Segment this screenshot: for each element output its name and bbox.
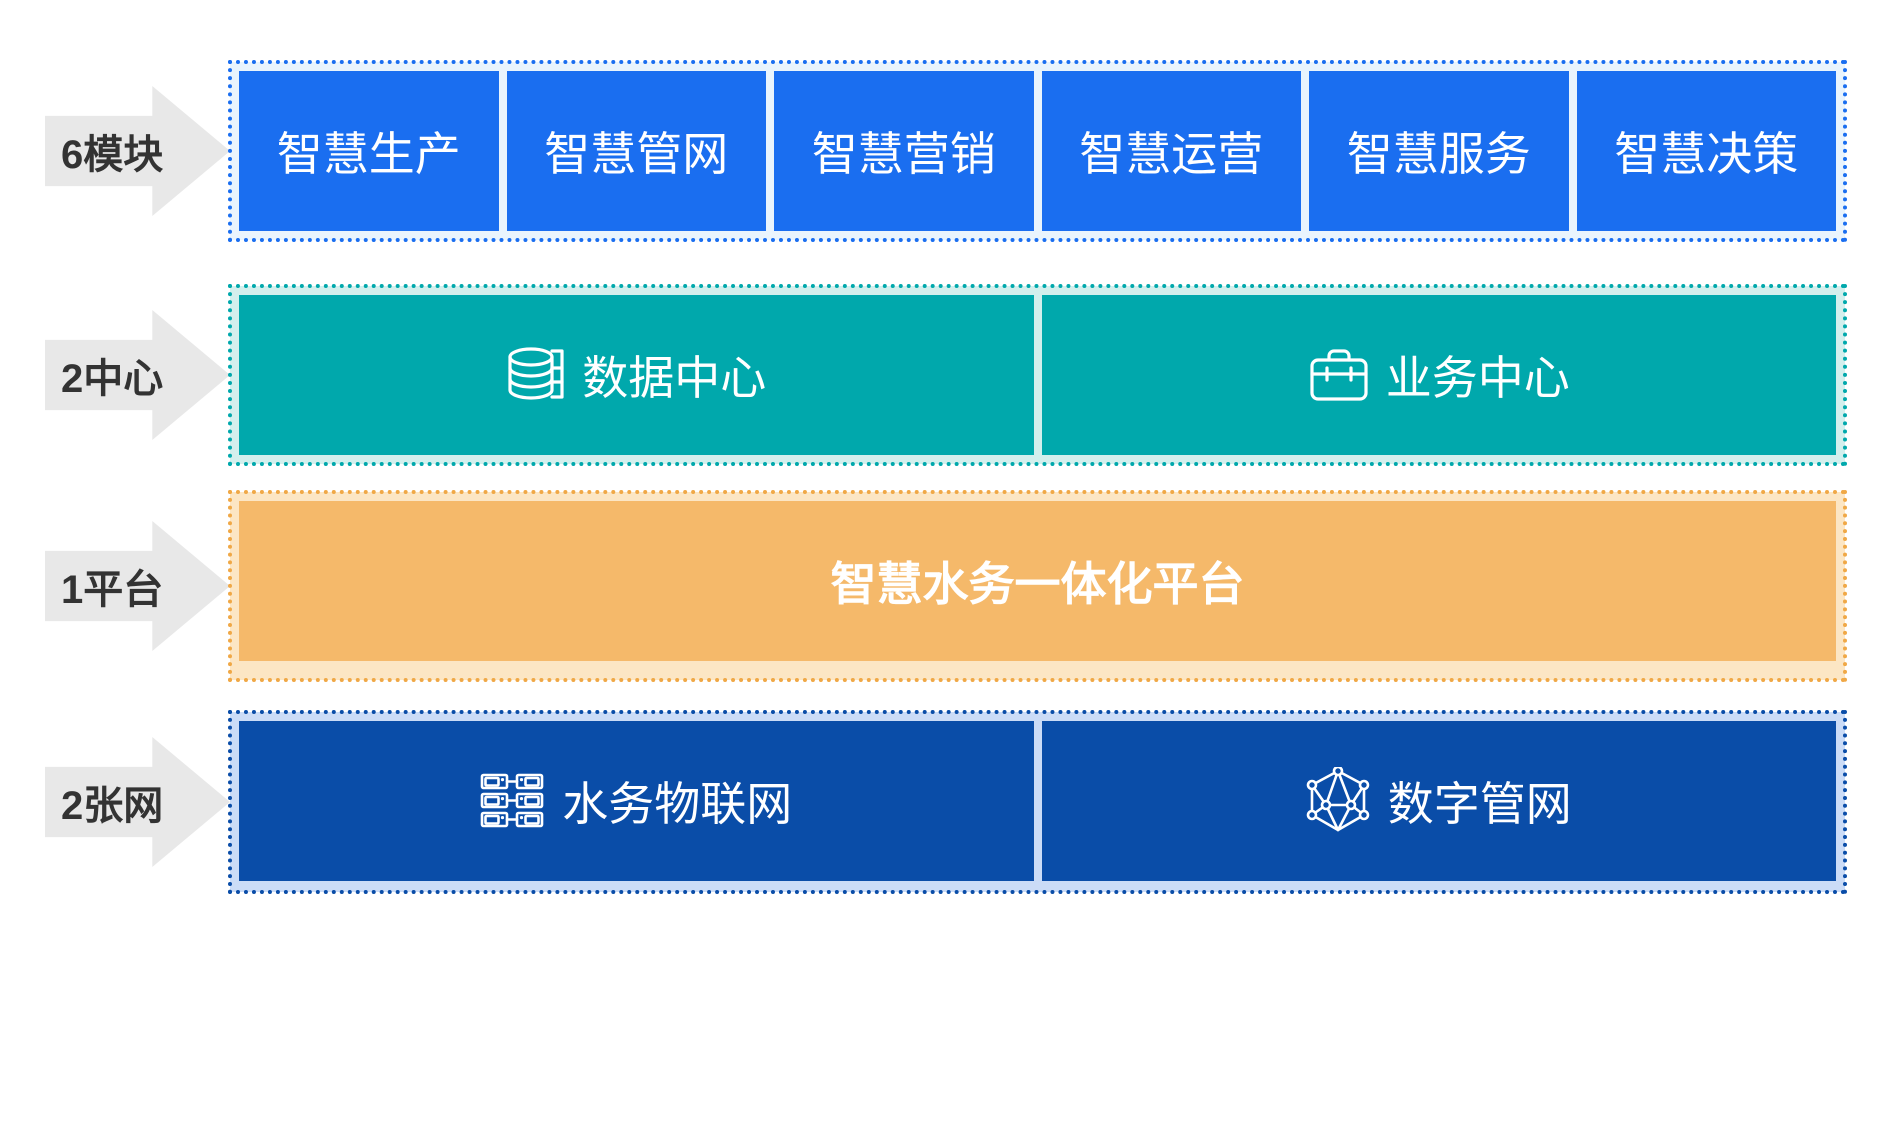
architecture-diagram: 6模块 智慧生产 智慧管网 智慧营销 智慧运营 智慧服务 智慧决策: [0, 0, 1893, 1129]
module-panel[interactable]: 智慧决策: [1577, 71, 1837, 231]
arrow-label-text: 2中心: [45, 346, 163, 404]
module-label: 智慧服务: [1347, 118, 1531, 184]
iot-grid-icon: [480, 773, 544, 829]
arrow-label-centers: 2中心: [45, 310, 230, 440]
arrow-label-text: 1平台: [45, 557, 163, 615]
arrow-label-text: 2张网: [45, 773, 163, 831]
row-platform: 1平台 智慧水务一体化平台: [45, 492, 1845, 680]
toolbox-icon: [1308, 347, 1370, 403]
band-modules: 智慧生产 智慧管网 智慧营销 智慧运营 智慧服务 智慧决策: [230, 62, 1845, 240]
platform-panel[interactable]: 智慧水务一体化平台: [239, 501, 1836, 661]
center-panel-data[interactable]: 数据中心: [239, 295, 1034, 455]
arrow-label-modules: 6模块: [45, 86, 230, 216]
module-panel[interactable]: 智慧营销: [774, 71, 1034, 231]
row-centers: 2中心 数据中心: [45, 286, 1845, 464]
module-panel[interactable]: 智慧生产: [239, 71, 499, 231]
center-label: 业务中心: [1386, 342, 1570, 408]
arrow-label-networks: 2张网: [45, 737, 230, 867]
module-label: 智慧决策: [1614, 118, 1798, 184]
network-panel-iot[interactable]: 水务物联网: [239, 721, 1034, 881]
network-panel-pipe[interactable]: 数字管网: [1042, 721, 1837, 881]
database-icon: [506, 344, 566, 406]
module-label: 智慧管网: [544, 118, 728, 184]
module-label: 智慧生产: [277, 118, 461, 184]
arrow-label-platform: 1平台: [45, 521, 230, 651]
band-networks: 水务物联网: [230, 712, 1845, 892]
band-platform: 智慧水务一体化平台: [230, 492, 1845, 680]
arrow-label-text: 6模块: [45, 122, 163, 180]
module-label: 智慧运营: [1079, 118, 1263, 184]
row-modules: 6模块 智慧生产 智慧管网 智慧营销 智慧运营 智慧服务 智慧决策: [45, 62, 1845, 240]
module-panel[interactable]: 智慧管网: [507, 71, 767, 231]
hex-network-icon: [1306, 767, 1370, 835]
network-label: 数字管网: [1388, 768, 1572, 834]
center-panel-business[interactable]: 业务中心: [1042, 295, 1837, 455]
platform-label: 智慧水务一体化平台: [831, 548, 1245, 614]
row-networks: 2张网: [45, 712, 1845, 892]
center-label: 数据中心: [582, 342, 766, 408]
network-label: 水务物联网: [562, 768, 792, 834]
module-panel[interactable]: 智慧运营: [1042, 71, 1302, 231]
band-centers: 数据中心 业务中心: [230, 286, 1845, 464]
module-label: 智慧营销: [812, 118, 996, 184]
module-panel[interactable]: 智慧服务: [1309, 71, 1569, 231]
